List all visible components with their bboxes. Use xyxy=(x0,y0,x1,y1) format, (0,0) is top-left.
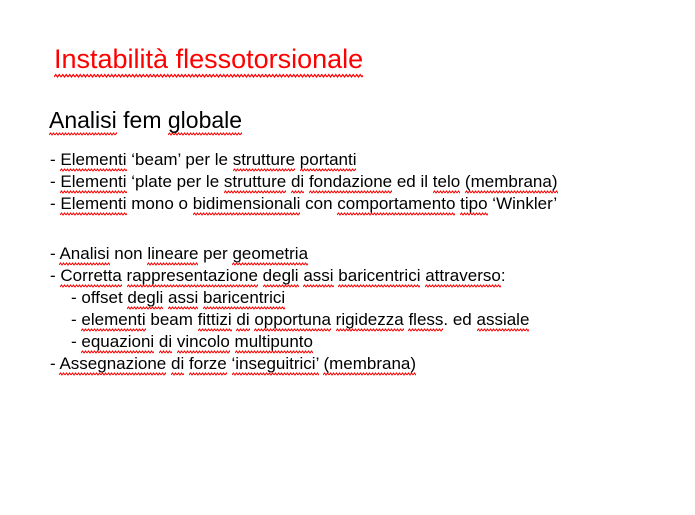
slide-canvas: Instabilità flessotorsionale Analisi fem… xyxy=(0,0,695,515)
misspelled-word: strutture xyxy=(233,150,295,172)
list-item-dash: - xyxy=(71,332,81,351)
misspelled-word: forze xyxy=(189,354,227,376)
misspelled-word: assiale xyxy=(477,310,530,332)
misspelled-word: lineare xyxy=(147,244,198,266)
misspelled-word: Assegnazione xyxy=(59,354,166,376)
list-item-text xyxy=(227,354,232,373)
misspelled-word: geometria xyxy=(232,244,308,266)
misspelled-word: Elementi xyxy=(60,150,126,172)
subtitle-word-analisi: Analisi xyxy=(49,107,117,136)
misspelled-word: opportuna xyxy=(254,310,331,332)
misspelled-word: baricentrici xyxy=(203,288,285,310)
misspelled-word: Corretta xyxy=(60,266,121,288)
list-item: - elementi beam fittizi di opportuna rig… xyxy=(50,309,529,331)
list-item-text: ‘beam’ per le xyxy=(127,150,233,169)
misspelled-word: fittizi xyxy=(198,310,232,332)
misspelled-word: attraverso xyxy=(425,266,501,288)
subtitle-word-globale: globale xyxy=(168,107,242,136)
subtitle-word-fem: fem xyxy=(117,107,168,133)
misspelled-word: equazioni xyxy=(81,332,154,354)
misspelled-word: ‘inseguitrici’ xyxy=(232,354,319,376)
list-item-text xyxy=(122,266,127,285)
list-item-dash: - xyxy=(50,266,60,285)
page-title-text: Instabilità flessotorsionale xyxy=(54,44,363,78)
misspelled-word: bidimensionali xyxy=(193,194,301,216)
misspelled-word: tipo xyxy=(460,194,487,216)
misspelled-word: baricentrici xyxy=(338,266,420,288)
list-item: - Corretta rappresentazione degli assi b… xyxy=(50,265,529,287)
slide-subtitle-text: Analisi fem globale xyxy=(49,107,242,136)
misspelled-word: multipunto xyxy=(235,332,313,354)
list-item-dash: - xyxy=(50,172,60,191)
list-item-text: : xyxy=(501,266,506,285)
misspelled-word: rigidezza xyxy=(336,310,404,332)
list-item-text xyxy=(331,310,336,329)
misspelled-word: (membrana) xyxy=(465,172,558,194)
list-item-text: ‘Winkler’ xyxy=(488,194,558,213)
list-item-text: mono o xyxy=(127,194,193,213)
bullet-block-analisi-elementi: - Elementi ‘beam’ per le strutture porta… xyxy=(50,149,558,215)
list-item-dash: - xyxy=(50,194,60,213)
misspelled-word: comportamento xyxy=(337,194,455,216)
list-item: - offset degli assi baricentrici xyxy=(50,287,529,309)
slide-subtitle: Analisi fem globale xyxy=(49,107,242,133)
misspelled-word: Analisi xyxy=(59,244,109,266)
list-item-text: non xyxy=(110,244,148,263)
list-item-dash: - xyxy=(50,150,60,169)
misspelled-word: fondazione xyxy=(309,172,392,194)
list-item: - Analisi non lineare per geometria xyxy=(50,243,529,265)
list-item-text: per xyxy=(198,244,232,263)
list-item-text xyxy=(230,332,235,351)
misspelled-word: rappresentazione xyxy=(127,266,258,288)
list-item: - Assegnazione di forze ‘inseguitrici’ (… xyxy=(50,353,529,375)
misspelled-word: vincolo xyxy=(177,332,230,354)
list-item-dash: - xyxy=(71,288,81,307)
misspelled-word: di xyxy=(159,332,172,354)
list-item-text: offset xyxy=(81,288,127,307)
list-item-text: ‘plate per le xyxy=(127,172,224,191)
misspelled-word: portanti xyxy=(300,150,357,172)
misspelled-word: di xyxy=(291,172,304,194)
misspelled-word: di xyxy=(236,310,249,332)
list-item: - equazioni di vincolo multipunto xyxy=(50,331,529,353)
misspelled-word: assi xyxy=(168,288,198,310)
list-item: - Elementi mono o bidimensionali con com… xyxy=(50,193,558,215)
list-item-text: . ed xyxy=(443,310,476,329)
misspelled-word: strutture xyxy=(224,172,286,194)
page-title: Instabilità flessotorsionale xyxy=(54,44,363,74)
list-item-text: con xyxy=(300,194,337,213)
misspelled-word: assi xyxy=(303,266,333,288)
list-item-text xyxy=(258,266,263,285)
misspelled-word: degli xyxy=(127,288,163,310)
misspelled-word: fless xyxy=(408,310,443,332)
misspelled-word: Elementi xyxy=(60,194,126,216)
bullet-block-analisi-modellazione: - Analisi non lineare per geometria- Cor… xyxy=(50,243,529,375)
misspelled-word: Elementi xyxy=(60,172,126,194)
list-item-dash: - xyxy=(71,310,81,329)
list-item-text: ed il xyxy=(392,172,433,191)
misspelled-word: elementi xyxy=(81,310,145,332)
misspelled-word: di xyxy=(171,354,184,376)
misspelled-word: telo xyxy=(433,172,460,194)
list-item: - Elementi ‘plate per le strutture di fo… xyxy=(50,171,558,193)
misspelled-word: degli xyxy=(263,266,299,288)
list-item-text: beam xyxy=(146,310,198,329)
misspelled-word: (membrana) xyxy=(323,354,416,376)
list-item: - Elementi ‘beam’ per le strutture porta… xyxy=(50,149,558,171)
